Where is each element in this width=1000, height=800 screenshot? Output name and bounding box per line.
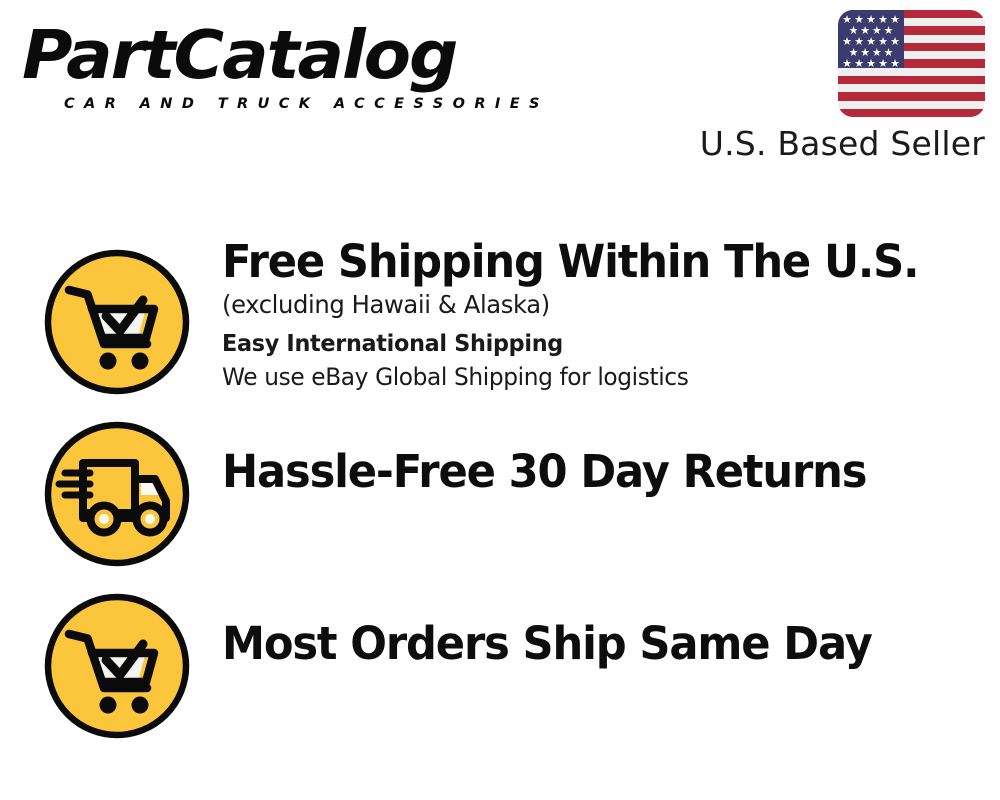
delivery-truck-icon [42, 419, 192, 569]
benefit-row: Most Orders Ship Same Day [0, 580, 1000, 752]
benefit-list: Free Shipping Within The U.S. (excluding… [0, 236, 1000, 752]
shopping-cart-check-icon [42, 247, 192, 397]
benefit-subtitle-international: Easy International Shipping [222, 327, 959, 361]
benefit-title: Hassle-Free 30 Day Returns [222, 446, 952, 498]
brand-wordmark: PartCatalog [22, 20, 516, 90]
benefit-text-block: Free Shipping Within The U.S. (excluding… [222, 236, 982, 394]
benefit-text-block: Hassle-Free 30 Day Returns [222, 446, 982, 498]
flag-canton: ★★★★★ ★★★★ ★★★★★ ★★★★ ★★★★★ [838, 10, 904, 68]
benefit-title: Most Orders Ship Same Day [222, 618, 952, 670]
benefit-title: Free Shipping Within The U.S. [222, 236, 952, 288]
brand-tagline: CAR AND TRUCK ACCESSORIES [64, 96, 549, 112]
benefit-subtitle-exclusions: (excluding Hawaii & Alaska) [222, 288, 959, 322]
brand-logo: PartCatalog CAR AND TRUCK ACCESSORIES [22, 20, 502, 120]
benefit-subtitle-logistics: We use eBay Global Shipping for logistic… [222, 361, 959, 394]
us-based-seller-label: U.S. Based Seller [685, 124, 985, 164]
benefit-text-block: Most Orders Ship Same Day [222, 618, 982, 670]
us-flag-icon: ★★★★★ ★★★★ ★★★★★ ★★★★ ★★★★★ [838, 10, 985, 117]
us-based-seller-block: ★★★★★ ★★★★ ★★★★★ ★★★★ ★★★★★ U.S. Based S… [685, 10, 985, 164]
benefit-row: Hassle-Free 30 Day Returns [0, 408, 1000, 580]
promo-banner: PartCatalog CAR AND TRUCK ACCESSORIES [0, 0, 1000, 800]
shopping-cart-check-icon [42, 591, 192, 741]
benefit-row: Free Shipping Within The U.S. (excluding… [0, 236, 1000, 408]
